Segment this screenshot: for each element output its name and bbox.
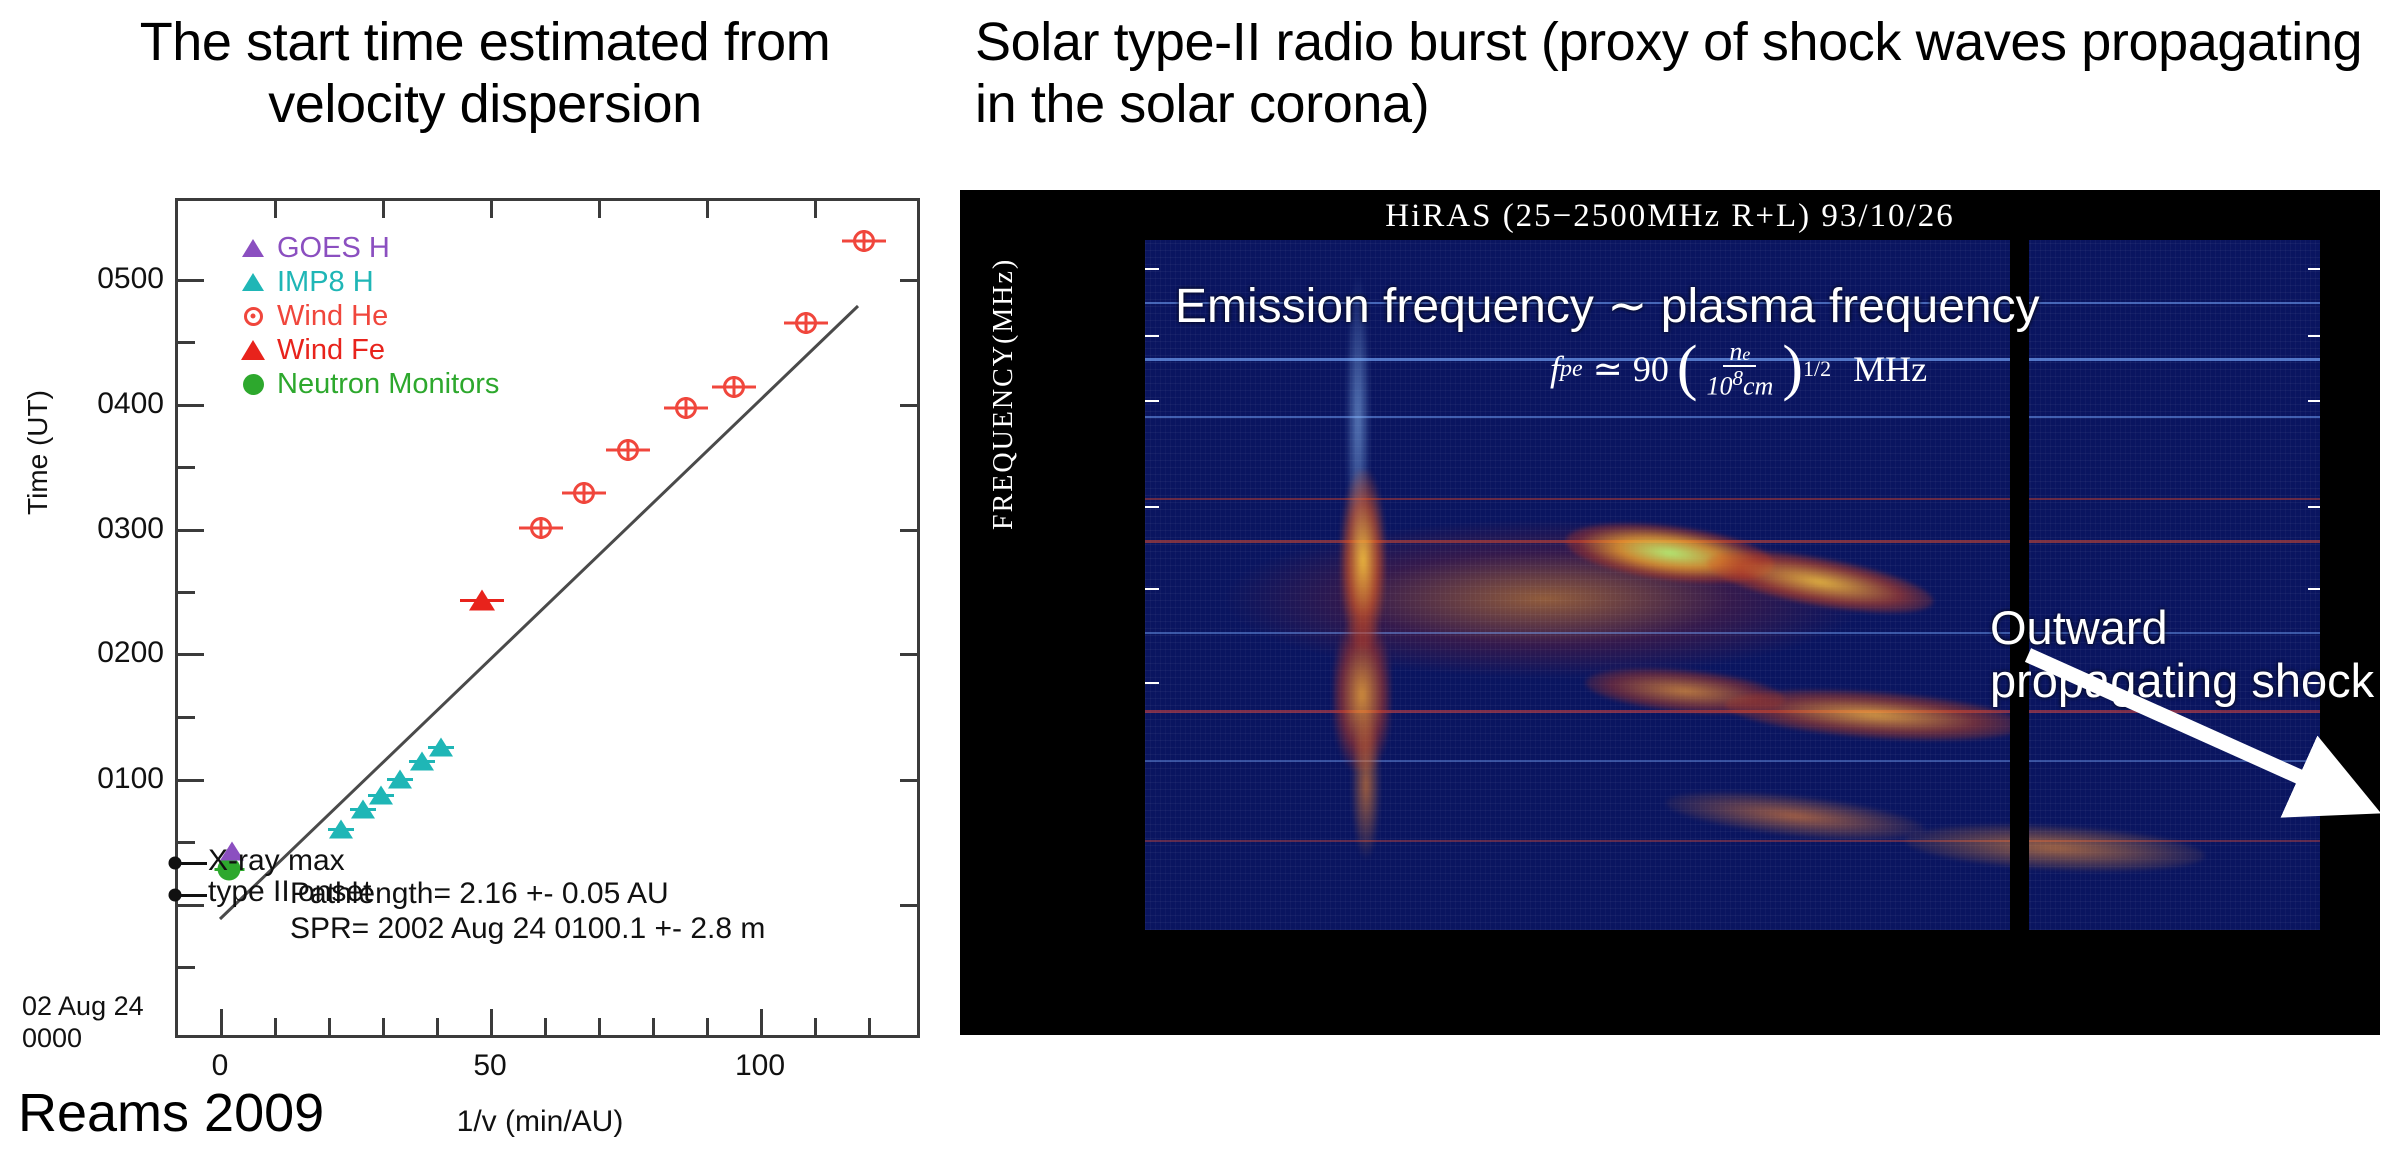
slide-root: The start time estimated from velocity d…	[0, 0, 2400, 1160]
xray-max-leader	[175, 862, 207, 865]
x-tick-label: 100	[735, 1049, 785, 1083]
formula-fraction: ne 108cm	[1701, 338, 1780, 400]
annotation-xray-max: X-ray max	[208, 844, 345, 878]
data-point-imp8	[429, 738, 453, 757]
y-tick-label: 0500	[97, 262, 164, 296]
formula-approx: ≃	[1593, 348, 1623, 390]
page-title-right: Solar type-II radio burst (proxy of shoc…	[975, 12, 2375, 135]
y-tick-label: 0100	[97, 762, 164, 796]
y-axis-title: Time (UT)	[22, 390, 54, 515]
page-title-left: The start time estimated from velocity d…	[95, 12, 875, 135]
y-tick-label: 0200	[97, 636, 164, 670]
x-tick-label: 50	[473, 1049, 506, 1083]
formula-coefficient: 90	[1633, 348, 1669, 390]
data-point-wind-he	[675, 397, 697, 419]
plot-frame: 0500 0400 0300 0200 0100 0	[175, 198, 920, 1038]
radio-spectrogram-panel: HiRAS (25−2500MHz R+L) 93/10/26 FREQUENC…	[960, 190, 2380, 1035]
data-point-wind-he	[723, 376, 745, 398]
plasma-frequency-formula: fpe ≃ 90 ( ne 108cm ) 1/2 MHz	[1550, 338, 1927, 400]
y-tick-label: 0300	[97, 512, 164, 546]
annotation-emission-frequency: Emission frequency ∼ plasma frequency	[1175, 278, 2040, 334]
y-tick-label: 0400	[97, 387, 164, 421]
annotation-type-ii-onset: type II onset	[208, 875, 371, 909]
formula-lhs: f	[1550, 348, 1560, 390]
data-point-wind-he	[795, 312, 817, 334]
data-point-imp8	[329, 820, 353, 839]
type-ii-onset-leader	[175, 894, 207, 897]
formula-exponent: 1/2	[1803, 356, 1831, 382]
data-point-imp8	[388, 770, 412, 789]
spectrogram-header: HiRAS (25−2500MHz R+L) 93/10/26	[960, 198, 2380, 235]
y-axis-date-label: 02 Aug 24 0000	[22, 990, 144, 1055]
citation-credit: Reams 2009	[18, 1082, 324, 1144]
spectrogram-y-axis-title: FREQUENCY(MHz)	[988, 258, 1020, 530]
data-point-wind-he	[853, 230, 875, 252]
x-tick-label: 0	[212, 1049, 229, 1083]
data-point-wind-fe	[469, 590, 495, 611]
data-point-wind-he	[530, 517, 552, 539]
formula-unit: MHz	[1853, 348, 1927, 390]
data-point-wind-he	[617, 439, 639, 461]
data-point-wind-he	[573, 482, 595, 504]
formula-lhs-sub: pe	[1560, 356, 1583, 383]
velocity-dispersion-chart: Time (UT) 1/v (min/AU) 02 Aug 24 0000 05…	[0, 185, 940, 1065]
x-axis-title: 1/v (min/AU)	[457, 1105, 624, 1139]
shock-direction-arrow	[2020, 645, 2400, 845]
